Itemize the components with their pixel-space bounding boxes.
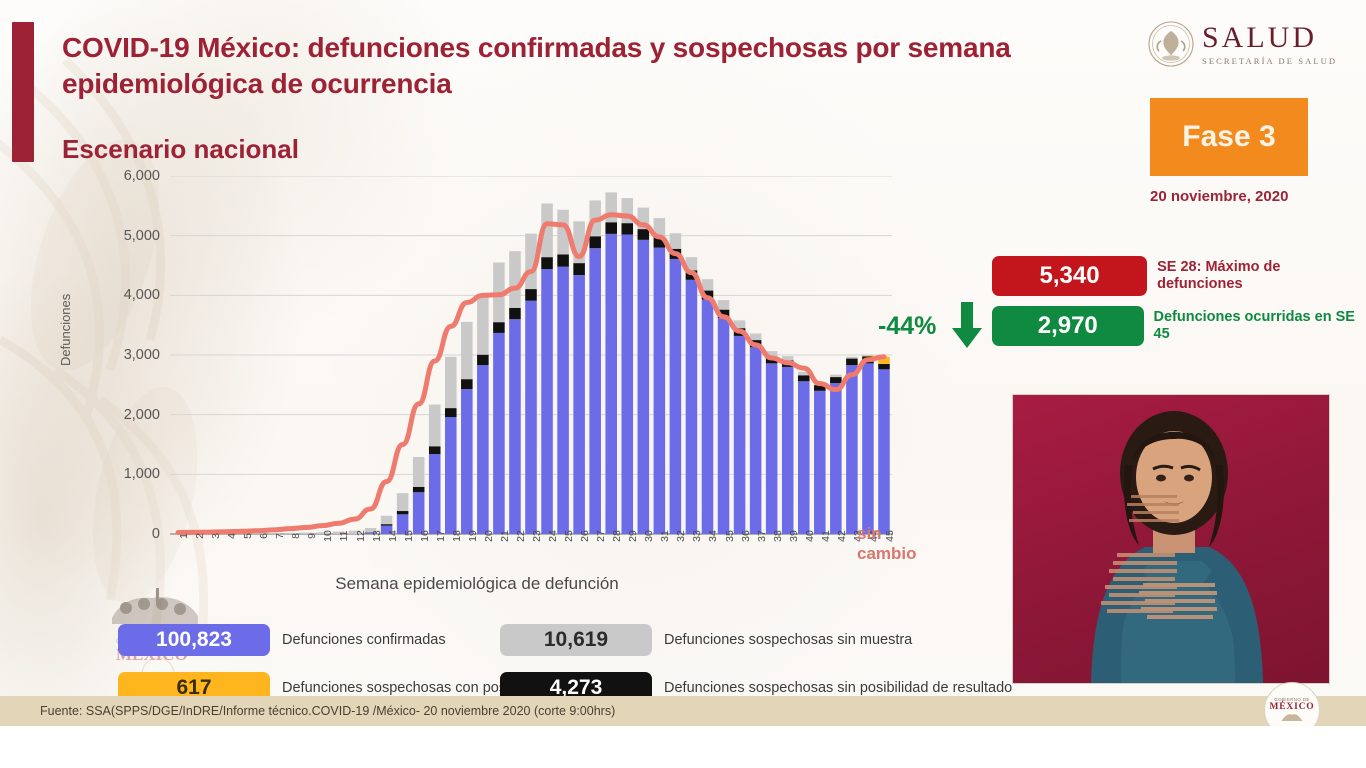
y-tick-2000: 2,000 <box>62 407 160 423</box>
y-tick-5000: 5,000 <box>62 228 160 244</box>
kpi-max-deaths-label: SE 28: Máximo de defunciones <box>1157 259 1366 294</box>
x-tick-29: 29 <box>627 530 639 542</box>
y-tick-3000: 3,000 <box>62 347 160 363</box>
x-tick-5: 5 <box>242 533 254 539</box>
deaths-by-epi-week-chart: Defunciones 01,0002,0003,0004,0005,0006,… <box>62 176 892 606</box>
legend-item-sin-muestra: 10,619 Defunciones sospechosas sin muest… <box>500 624 912 656</box>
x-tick-31: 31 <box>659 530 671 542</box>
x-tick-19: 19 <box>467 530 479 542</box>
x-tick-25: 25 <box>563 530 575 542</box>
y-tick-0: 0 <box>62 526 160 542</box>
x-tick-33: 33 <box>691 530 703 542</box>
x-tick-10: 10 <box>322 530 334 542</box>
x-tick-21: 21 <box>499 530 511 542</box>
x-tick-16: 16 <box>419 530 431 542</box>
x-tick-8: 8 <box>290 533 302 539</box>
sin-cambio-annotation: sin cambio <box>857 524 917 563</box>
x-tick-17: 17 <box>435 530 447 542</box>
x-tick-41: 41 <box>820 530 832 542</box>
legend-label-confirmadas: Defunciones confirmadas <box>282 631 446 650</box>
x-tick-3: 3 <box>210 533 222 539</box>
legend-value-sin-muestra: 10,619 <box>500 624 652 656</box>
x-tick-20: 20 <box>483 530 495 542</box>
x-tick-42: 42 <box>836 530 848 542</box>
x-tick-6: 6 <box>258 533 270 539</box>
x-tick-4: 4 <box>226 533 238 539</box>
kpi-week45-value: 2,970 <box>992 306 1144 346</box>
seal-main-text: MÉXICO <box>1270 702 1315 712</box>
title-accent-bar <box>12 22 34 162</box>
footer-bar: Fuente: SSA(SPPS/DGE/InDRE/Informe técni… <box>0 696 1366 726</box>
sin-cambio-line1: sin <box>857 524 917 544</box>
kpi-week45-label: Defunciones ocurridas en SE 45 <box>1154 309 1366 344</box>
legend-label-sin-posibilidad: Defunciones sospechosas sin posibilidad … <box>664 679 1012 698</box>
x-tick-1: 1 <box>178 533 190 539</box>
kpi-max-deaths-value: 5,340 <box>992 256 1147 296</box>
x-tick-26: 26 <box>579 530 591 542</box>
x-tick-32: 32 <box>675 530 687 542</box>
salud-sub-wordmark: SECRETARÍA DE SALUD <box>1202 57 1337 66</box>
x-tick-9: 9 <box>306 533 318 539</box>
x-tick-12: 12 <box>355 530 367 542</box>
mexico-eagle-seal-icon <box>1148 21 1194 67</box>
x-tick-27: 27 <box>595 530 607 542</box>
chart-plot-area <box>170 176 892 566</box>
x-tick-28: 28 <box>611 530 623 542</box>
source-text: Fuente: SSA(SPPS/DGE/InDRE/Informe técni… <box>40 704 615 718</box>
y-tick-6000: 6,000 <box>62 168 160 184</box>
x-tick-30: 30 <box>643 530 655 542</box>
x-tick-14: 14 <box>387 530 399 542</box>
legend-value-confirmadas: 100,823 <box>118 624 270 656</box>
page-subtitle: Escenario nacional <box>62 134 299 165</box>
kpi-max-deaths: 5,340 SE 28: Máximo de defunciones <box>992 256 1366 296</box>
x-tick-36: 36 <box>740 530 752 542</box>
y-tick-4000: 4,000 <box>62 287 160 303</box>
page-title: COVID-19 México: defunciones confirmadas… <box>62 30 1062 102</box>
sin-cambio-line2: cambio <box>857 544 917 564</box>
x-tick-11: 11 <box>338 531 350 542</box>
x-tick-34: 34 <box>707 530 719 542</box>
arrow-down-icon <box>950 302 984 348</box>
phase-badge: Fase 3 <box>1150 98 1308 176</box>
legend-item-confirmadas: 100,823 Defunciones confirmadas <box>118 624 446 656</box>
x-tick-38: 38 <box>772 530 784 542</box>
sign-language-interpreter-video[interactable] <box>1012 394 1330 684</box>
interpreter-figure <box>1013 395 1329 683</box>
x-tick-35: 35 <box>724 530 736 542</box>
salud-wordmark: SALUD <box>1202 23 1337 53</box>
x-tick-15: 15 <box>403 530 415 542</box>
x-tick-7: 7 <box>274 533 286 539</box>
salud-logo: SALUD SECRETARÍA DE SALUD <box>1148 16 1348 72</box>
x-tick-39: 39 <box>788 530 800 542</box>
seal-eagle-icon <box>1279 712 1305 723</box>
bottom-strip <box>0 726 1366 768</box>
report-date: 20 noviembre, 2020 <box>1150 188 1350 205</box>
x-tick-13: 13 <box>371 530 383 542</box>
x-tick-18: 18 <box>451 530 463 542</box>
x-tick-40: 40 <box>804 530 816 542</box>
x-tick-2: 2 <box>194 533 206 539</box>
x-axis-ticks: 1234567891011121314151617181920212223242… <box>170 534 892 570</box>
x-tick-37: 37 <box>756 530 768 542</box>
legend-label-sin-muestra: Defunciones sospechosas sin muestra <box>664 631 912 650</box>
x-tick-24: 24 <box>547 530 559 542</box>
x-tick-23: 23 <box>531 530 543 542</box>
x-tick-22: 22 <box>515 530 527 542</box>
kpi-week45-deaths: 2,970 Defunciones ocurridas en SE 45 <box>992 306 1366 346</box>
y-tick-1000: 1,000 <box>62 466 160 482</box>
